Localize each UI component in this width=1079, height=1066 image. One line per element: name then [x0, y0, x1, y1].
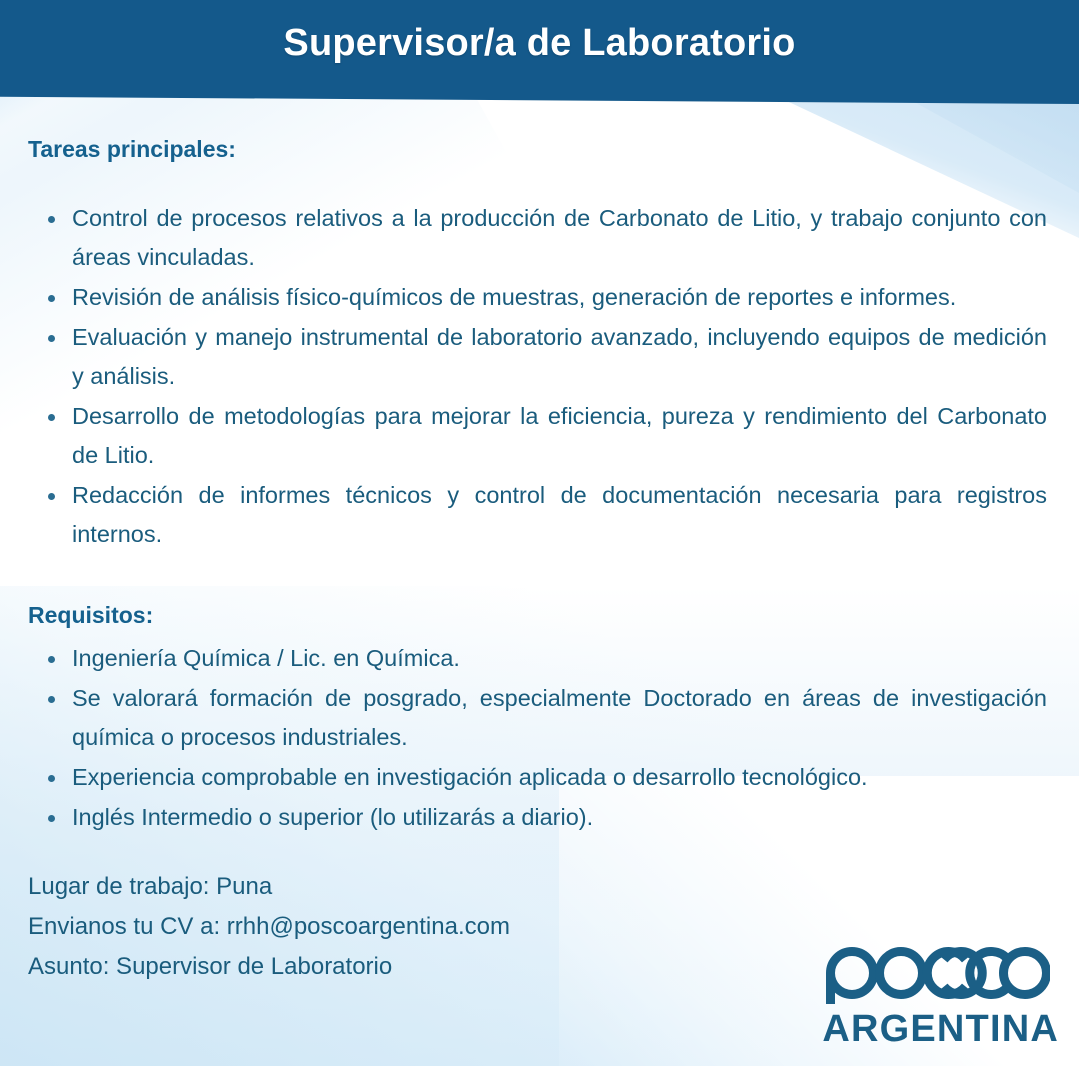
requisitos-heading: Requisitos:: [28, 602, 1079, 629]
poster-content: Tareas principales: Control de procesos …: [0, 104, 1079, 987]
list-item: Inglés Intermedio o superior (lo utiliza…: [72, 798, 1049, 837]
header-banner: Supervisor/a de Laboratorio: [0, 0, 1079, 104]
page-title: Supervisor/a de Laboratorio: [283, 22, 795, 65]
logo-subtitle: ARGENTINA: [822, 1010, 1059, 1048]
list-item: Evaluación y manejo instrumental de labo…: [72, 318, 1049, 396]
cv-email-line: Envianos tu CV a: rrhh@poscoargentina.co…: [28, 907, 1079, 947]
list-item: Revisión de análisis físico-químicos de …: [72, 278, 1049, 317]
requisitos-list: Ingeniería Química / Lic. en Química. Se…: [0, 639, 1079, 837]
list-item: Se valorará formación de posgrado, espec…: [72, 679, 1049, 757]
job-posting-poster: Supervisor/a de Laboratorio Tareas princ…: [0, 0, 1079, 1066]
tareas-list: Control de procesos relativos a la produ…: [0, 199, 1079, 554]
list-item: Experiencia comprobable en investigación…: [72, 758, 1049, 797]
list-item: Control de procesos relativos a la produ…: [72, 199, 1049, 277]
tareas-heading: Tareas principales:: [28, 136, 1079, 163]
posco-wordmark-icon: [822, 946, 1050, 1008]
list-item: Redacción de informes técnicos y control…: [72, 476, 1049, 554]
list-item: Desarrollo de metodologías para mejorar …: [72, 397, 1049, 475]
work-location: Lugar de trabajo: Puna: [28, 867, 1079, 907]
posco-argentina-logo: ARGENTINA: [822, 946, 1061, 1048]
list-item: Ingeniería Química / Lic. en Química.: [72, 639, 1049, 678]
